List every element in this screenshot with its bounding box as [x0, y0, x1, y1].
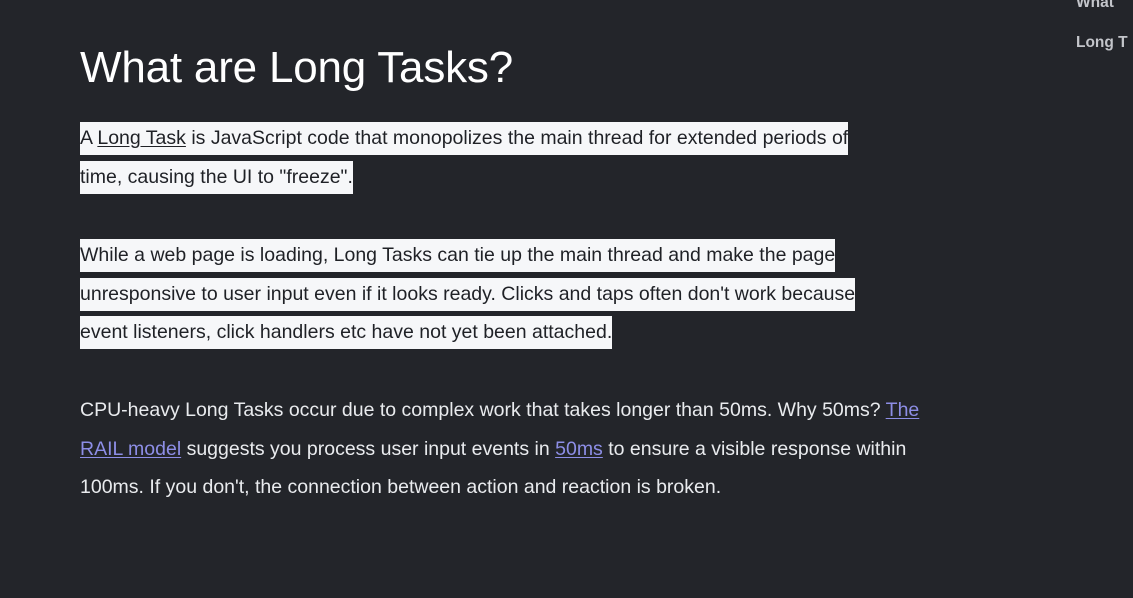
- text-run: A: [80, 127, 97, 149]
- paragraph-3: CPU-heavy Long Tasks occur due to comple…: [80, 391, 940, 507]
- table-of-contents-rail: What Long T: [1040, 0, 1133, 598]
- paragraph-text: CPU-heavy Long Tasks occur due to comple…: [80, 399, 919, 498]
- page-root: What are Long Tasks? A Long Task is Java…: [0, 0, 1133, 598]
- toc-item-0[interactable]: What: [1076, 0, 1133, 12]
- text-run: CPU-heavy Long Tasks occur due to comple…: [80, 399, 886, 421]
- inline-link[interactable]: 50ms: [555, 438, 603, 460]
- text-run: is JavaScript code that monopolizes the …: [80, 127, 848, 188]
- text-run: suggests you process user input events i…: [181, 438, 555, 460]
- paragraph-1: A Long Task is JavaScript code that mono…: [80, 119, 870, 196]
- toc-item-1[interactable]: Long T: [1076, 34, 1133, 52]
- paragraph-text: While a web page is loading, Long Tasks …: [80, 239, 855, 349]
- inline-link[interactable]: Long Task: [97, 127, 186, 149]
- table-of-contents-list: What Long T: [1076, 0, 1133, 74]
- paragraph-2: While a web page is loading, Long Tasks …: [80, 236, 900, 352]
- page-title: What are Long Tasks?: [80, 42, 513, 94]
- paragraph-text: A Long Task is JavaScript code that mono…: [80, 122, 848, 194]
- text-run: While a web page is loading, Long Tasks …: [80, 244, 855, 343]
- article-body: What are Long Tasks? A Long Task is Java…: [0, 0, 1040, 598]
